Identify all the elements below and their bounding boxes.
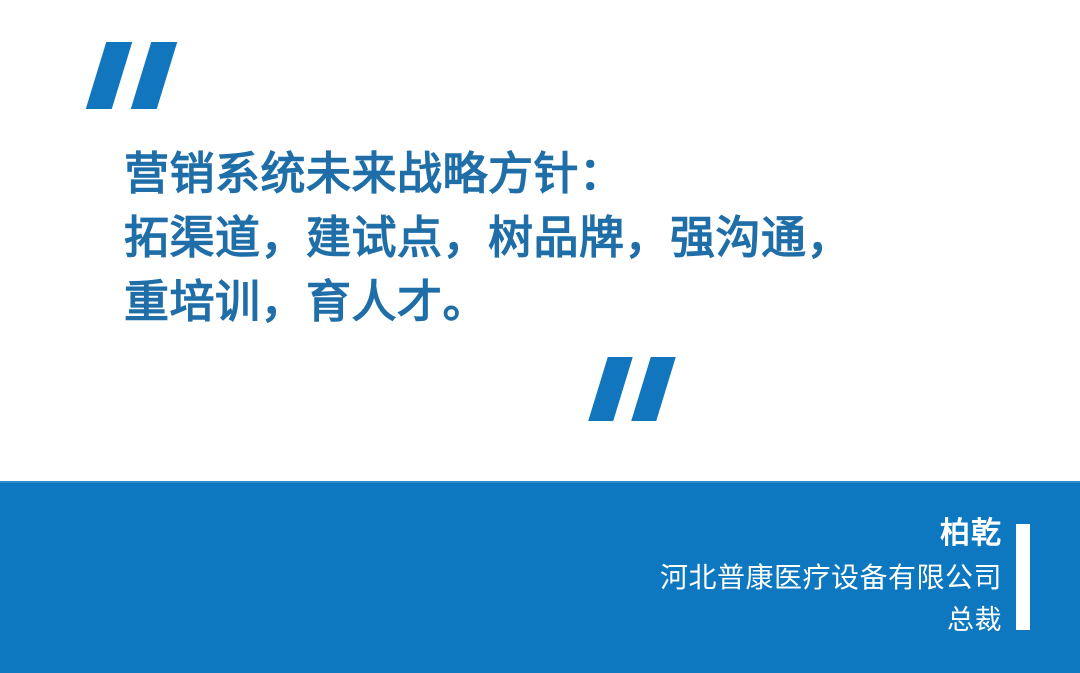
footer-divider-bar (1016, 524, 1030, 630)
attribution-role: 总裁 (660, 600, 1002, 642)
open-quote-stroke-2 (131, 42, 177, 109)
footer-bar: 柏乾 河北普康医疗设备有限公司 总裁 (0, 481, 1080, 673)
close-quote-icon (592, 357, 672, 421)
attribution-name: 柏乾 (660, 512, 1002, 556)
open-quote-stroke-1 (86, 42, 132, 109)
footer-content: 柏乾 河北普康医疗设备有限公司 总裁 (0, 481, 1080, 673)
close-quote-stroke-2 (631, 357, 676, 421)
close-quote-stroke-1 (588, 357, 633, 421)
quote-line-3: 重培训，育人才。 (124, 270, 1024, 334)
attribution-block: 柏乾 河北普康医疗设备有限公司 总裁 (660, 512, 1016, 642)
quote-slide: 营销系统未来战略方针： 拓渠道，建试点，树品牌，强沟通， 重培训，育人才。 柏乾… (0, 0, 1080, 673)
quote-line-2: 拓渠道，建试点，树品牌，强沟通， (124, 206, 1024, 270)
quote-line-1: 营销系统未来战略方针： (124, 142, 1024, 206)
attribution-organization: 河北普康医疗设备有限公司 (660, 556, 1002, 600)
open-quote-icon (88, 42, 174, 109)
quote-text-block: 营销系统未来战略方针： 拓渠道，建试点，树品牌，强沟通， 重培训，育人才。 (124, 142, 1024, 334)
